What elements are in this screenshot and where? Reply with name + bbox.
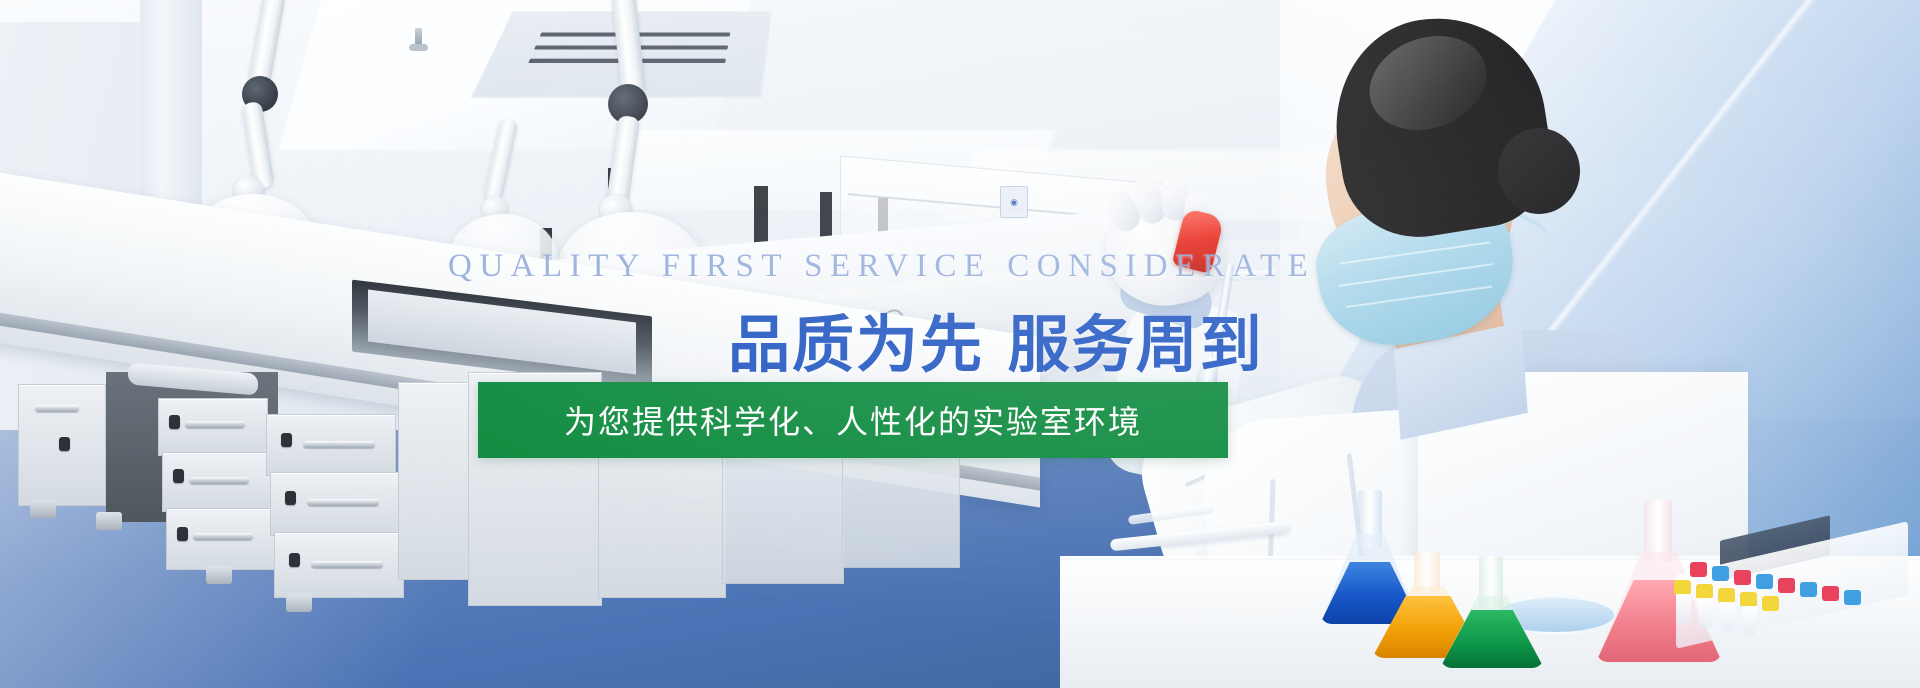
headline: 品质为先 服务周到: [728, 294, 1264, 384]
bench-cabinet[interactable]: [398, 382, 472, 580]
english-tagline: QUALITY FIRST SERVICE CONSIDERATE: [448, 248, 1315, 285]
test-tube-group: [1690, 556, 1920, 636]
drawer[interactable]: [270, 472, 400, 536]
bench-cabinet: [18, 384, 106, 506]
drawer[interactable]: [266, 414, 396, 476]
hair-bun: [1498, 128, 1580, 214]
flask-green: [1440, 556, 1544, 668]
drawer[interactable]: [274, 532, 404, 598]
drawer[interactable]: [166, 508, 276, 570]
cabinet-caster: [286, 594, 312, 612]
lab-hero-banner: ◉: [0, 0, 1920, 688]
subhead-green-band: 为您提供科学化、人性化的实验室环境: [478, 382, 1228, 458]
drawer[interactable]: [162, 452, 272, 512]
drawer[interactable]: [158, 398, 268, 456]
cabinet-caster: [30, 500, 56, 518]
subhead-text: 为您提供科学化、人性化的实验室环境: [478, 382, 1228, 458]
shelf-label-icon: ◉: [1000, 186, 1028, 218]
sprinkler-icon: [409, 44, 428, 51]
cabinet-caster: [206, 566, 232, 584]
cabinet-caster: [96, 512, 122, 530]
